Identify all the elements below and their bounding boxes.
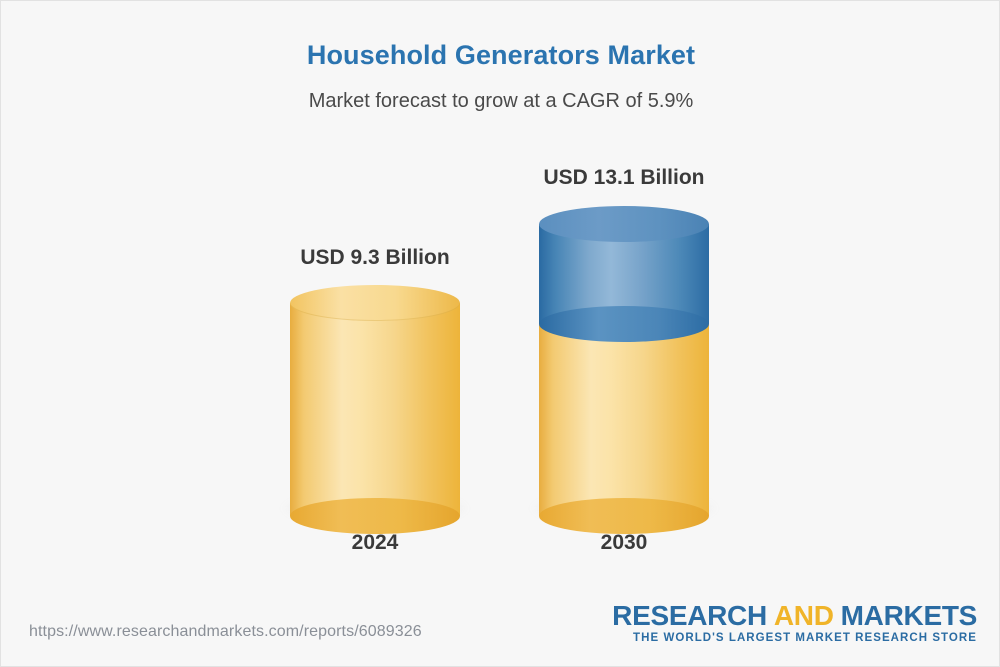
research-and-markets-logo[interactable]: RESEARCHANDMARKETS THE WORLD'S LARGEST M… xyxy=(612,601,977,644)
cylinder-body-2024 xyxy=(290,303,460,516)
logo-word-markets: MARKETS xyxy=(841,600,977,631)
logo-word-research: RESEARCH xyxy=(612,600,767,631)
cylinder-segment-blue-2030 xyxy=(539,206,709,324)
chart-plot-area: USD 9.3 Billion 2024 USD 13.1 Billion xyxy=(1,1,1000,601)
logo-wordmark: RESEARCHANDMARKETS xyxy=(612,601,977,630)
logo-word-and: AND xyxy=(774,600,834,631)
logo-tagline: THE WORLD'S LARGEST MARKET RESEARCH STOR… xyxy=(612,632,977,644)
cylinder-top-cap-2024 xyxy=(290,285,460,321)
bar-value-label-2030: USD 13.1 Billion xyxy=(474,166,774,190)
cylinder-bottom-2030 xyxy=(539,498,709,534)
bar-value-label-2024: USD 9.3 Billion xyxy=(225,246,525,270)
category-label-2024: 2024 xyxy=(290,531,460,555)
cylinder-bottom-2024 xyxy=(290,498,460,534)
cylinder-2024 xyxy=(290,285,460,516)
category-label-2030: 2030 xyxy=(539,531,709,555)
cylinder-top-cap-2030 xyxy=(539,206,709,242)
chart-canvas: Household Generators Market Market forec… xyxy=(0,0,1000,667)
cylinder-blue-bottom-edge-2030 xyxy=(539,306,709,342)
source-url[interactable]: https://www.researchandmarkets.com/repor… xyxy=(29,623,422,641)
